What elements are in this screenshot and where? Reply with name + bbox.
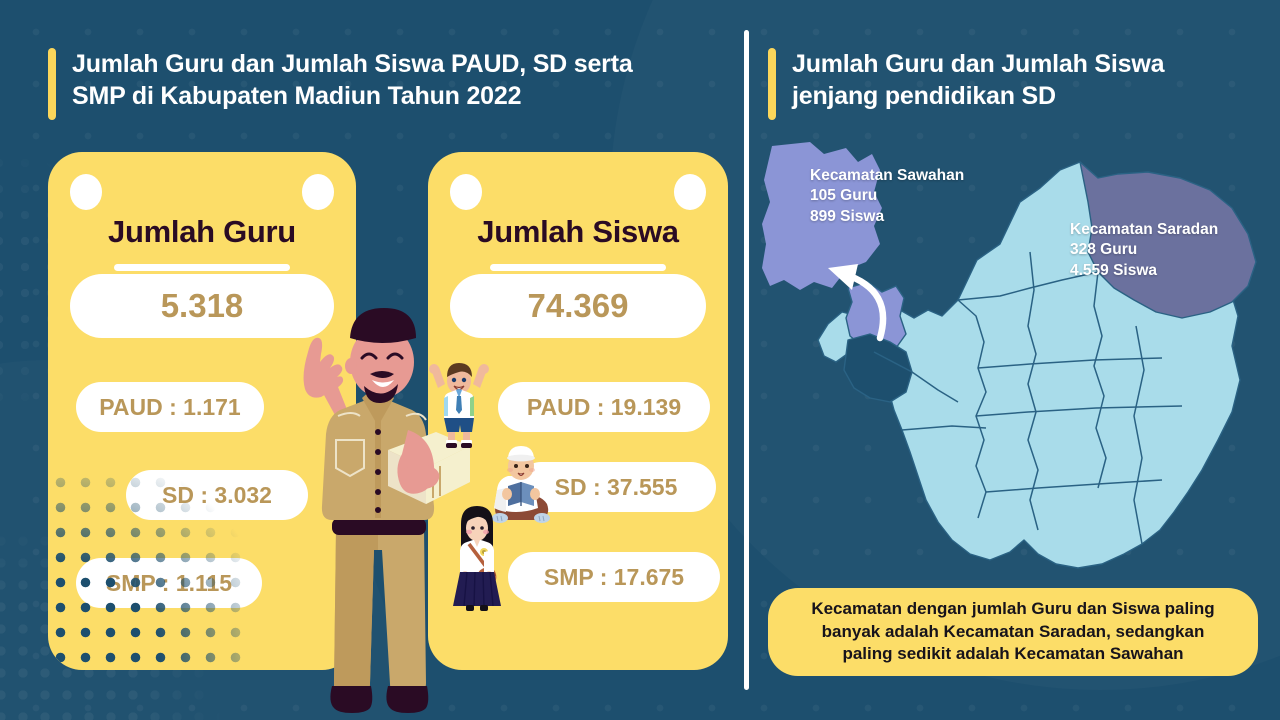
card-title-jumlah-guru: Jumlah Guru (48, 214, 356, 250)
heading-accent-bar (768, 48, 776, 120)
student-boy-illustration (428, 358, 490, 450)
card-title-underline (490, 264, 666, 271)
card-title-underline (114, 264, 290, 271)
heading-accent-bar (48, 48, 56, 120)
map-label-sawahan: Kecamatan Sawahan 105 Guru 899 Siswa (810, 166, 964, 227)
map-label-saradan: Kecamatan Saradan 328 Guru 4.559 Siswa (1070, 220, 1218, 281)
card-title-jumlah-siswa: Jumlah Siswa (428, 214, 728, 250)
infographic-canvas: Jumlah Guru dan Jumlah Siswa PAUD, SD se… (0, 0, 1280, 720)
panel-divider (744, 30, 749, 690)
card-punch-hole-right (302, 174, 334, 210)
breakdown-pill-paud-siswa: PAUD : 19.139 (498, 382, 710, 432)
student-girl-illustration (448, 502, 506, 612)
left-heading-text: Jumlah Guru dan Jumlah Siswa PAUD, SD se… (72, 48, 633, 112)
right-heading-text: Jumlah Guru dan Jumlah Siswa jenjang pen… (792, 48, 1164, 112)
map-summary-note-text: Kecamatan dengan jumlah Guru dan Siswa p… (811, 598, 1214, 665)
card-punch-hole-left (70, 174, 102, 210)
map-summary-note: Kecamatan dengan jumlah Guru dan Siswa p… (768, 588, 1258, 676)
card-punch-hole-right (674, 174, 706, 210)
right-panel-heading: Jumlah Guru dan Jumlah Siswa jenjang pen… (768, 48, 1164, 120)
card-total-jumlah-siswa: 74.369 (450, 274, 706, 338)
madiun-regency-map: Kecamatan Sawahan 105 Guru 899 Siswa Kec… (762, 140, 1267, 580)
left-panel-heading: Jumlah Guru dan Jumlah Siswa PAUD, SD se… (48, 48, 633, 120)
card-punch-hole-left (450, 174, 482, 210)
breakdown-pill-smp-siswa: SMP : 17.675 (508, 552, 720, 602)
breakdown-pill-paud-guru: PAUD : 1.171 (76, 382, 264, 432)
breakdown-pill-smp-guru: SMP : 1.115 (76, 558, 262, 608)
